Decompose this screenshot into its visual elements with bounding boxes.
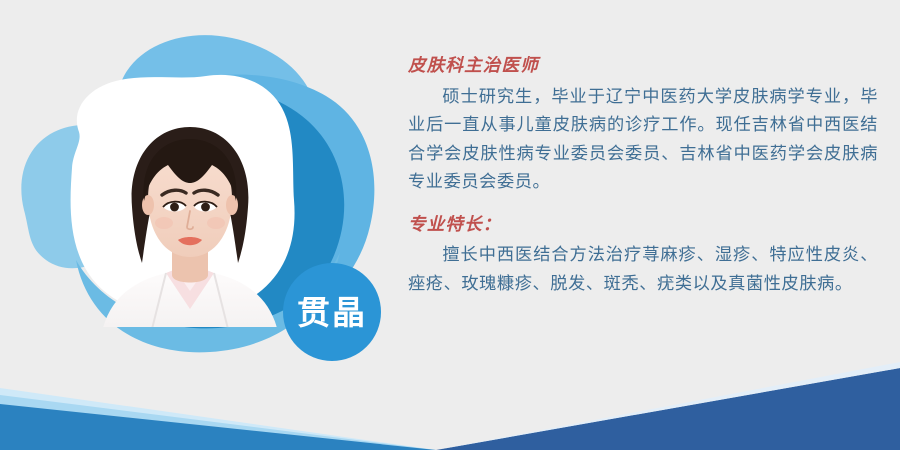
ribbon-right-sliver bbox=[436, 362, 900, 450]
avatar-badge-icon: 贯晶 bbox=[283, 263, 381, 361]
doctor-profile-card: 贯晶 皮肤科主治医师 硕士研究生，毕业于辽宁中医药大学皮肤病学专业，毕业后一直从… bbox=[0, 0, 900, 450]
pupil-left bbox=[170, 203, 179, 212]
portrait-photo-icon bbox=[70, 95, 310, 355]
photo-composition: 贯晶 bbox=[10, 10, 400, 395]
section-heading-specialty: 专业特长： bbox=[408, 213, 878, 237]
section-body-title: 硕士研究生，毕业于辽宁中医药大学皮肤病学专业，毕业后一直从事儿童皮肤病的诊疗工作… bbox=[408, 83, 878, 197]
section-heading-title: 皮肤科主治医师 bbox=[408, 54, 878, 78]
doctor-name: 贯晶 bbox=[297, 296, 367, 329]
ribbon-highlight-lower bbox=[0, 395, 436, 450]
blush-left bbox=[155, 217, 173, 229]
ribbon-right-band bbox=[436, 368, 900, 450]
title-section: 皮肤科主治医师 硕士研究生，毕业于辽宁中医药大学皮肤病学专业，毕业后一直从事儿童… bbox=[408, 54, 878, 197]
ribbon-left-band bbox=[0, 404, 436, 450]
specialty-section: 专业特长： 擅长中西医结合方法治疗荨麻疹、湿疹、特应性皮炎、痤疮、玫瑰糠疹、脱发… bbox=[408, 213, 878, 299]
portrait-photo bbox=[70, 95, 310, 355]
doctor-bio-column: 皮肤科主治医师 硕士研究生，毕业于辽宁中医药大学皮肤病学专业，毕业后一直从事儿童… bbox=[408, 54, 878, 315]
ribbon-highlight-upper bbox=[0, 388, 436, 450]
blush-right bbox=[207, 217, 225, 229]
section-body-specialty: 擅长中西医结合方法治疗荨麻疹、湿疹、特应性皮炎、痤疮、玫瑰糠疹、脱发、斑秃、疣类… bbox=[408, 241, 878, 298]
pupil-right bbox=[201, 203, 210, 212]
